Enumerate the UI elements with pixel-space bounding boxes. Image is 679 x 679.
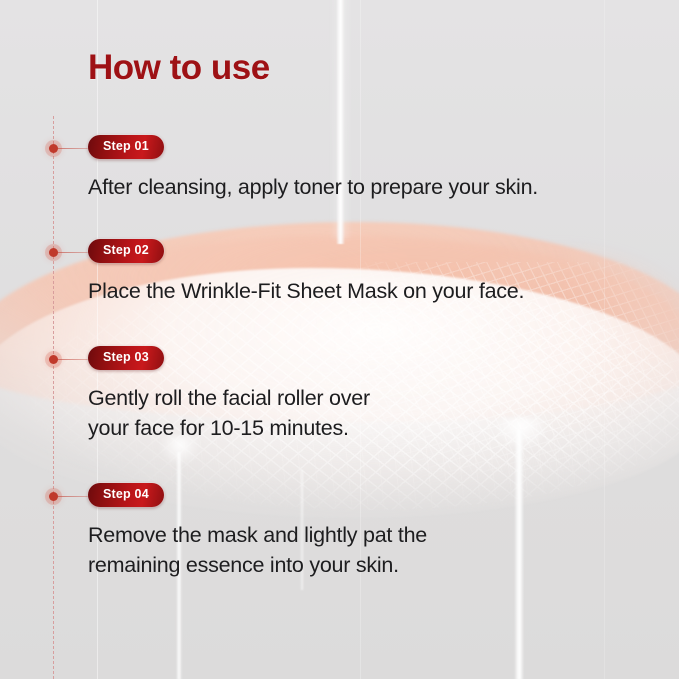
essence-stream-icon	[336, 0, 345, 244]
step-item-2: Step 02 Place the Wrinkle-Fit Sheet Mask…	[88, 239, 524, 306]
page-title: How to use	[88, 48, 270, 88]
timeline-connector-1	[58, 148, 90, 149]
timeline-node-1	[49, 144, 58, 153]
step-text-3: Gently roll the facial roller over your …	[88, 383, 370, 443]
how-to-use-poster: How to use Step 01 After cleansing, appl…	[0, 0, 679, 679]
step-badge-1: Step 01	[88, 135, 164, 159]
timeline-connector-2	[58, 252, 90, 253]
timeline-rail	[53, 116, 54, 679]
essence-drip-a	[514, 430, 524, 679]
panel-seam-3	[604, 0, 605, 679]
timeline-connector-4	[58, 496, 90, 497]
step-item-4: Step 04 Remove the mask and lightly pat …	[88, 483, 427, 580]
step-item-1: Step 01 After cleansing, apply toner to …	[88, 135, 538, 202]
timeline-node-2	[49, 248, 58, 257]
timeline-node-3	[49, 355, 58, 364]
timeline-node-4	[49, 492, 58, 501]
step-badge-4: Step 04	[88, 483, 164, 507]
step-badge-2: Step 02	[88, 239, 164, 263]
step-item-3: Step 03 Gently roll the facial roller ov…	[88, 346, 370, 443]
step-badge-3: Step 03	[88, 346, 164, 370]
step-text-1: After cleansing, apply toner to prepare …	[88, 172, 538, 202]
step-text-2: Place the Wrinkle-Fit Sheet Mask on your…	[88, 276, 524, 306]
timeline-connector-3	[58, 359, 90, 360]
step-text-4: Remove the mask and lightly pat the rema…	[88, 520, 427, 580]
